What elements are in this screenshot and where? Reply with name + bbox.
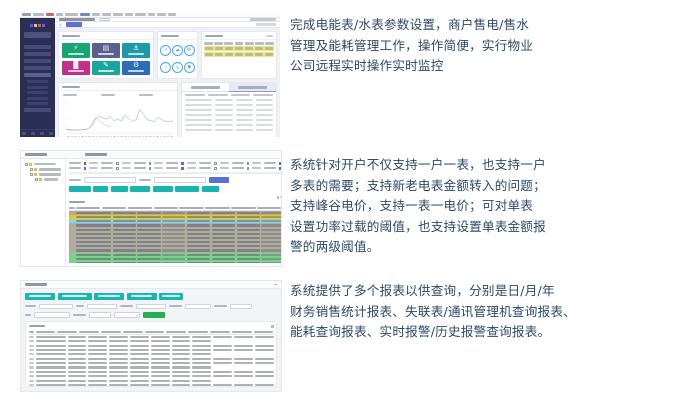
report-filter-input-3[interactable]: [136, 304, 166, 310]
report-cell: [172, 349, 191, 351]
chart-filter-row[interactable]: [59, 91, 177, 99]
x-tick-8: [92, 136, 95, 137]
minimize-icon[interactable]: [274, 284, 277, 285]
report-dropdown[interactable]: [114, 312, 140, 318]
report-tab-4[interactable]: [127, 293, 157, 300]
panel-header: [202, 32, 276, 40]
report-column-header[interactable]: [254, 331, 274, 333]
bookmark-item[interactable]: [22, 13, 31, 15]
report-table-header-bar: [29, 325, 274, 328]
meter-table[interactable]: [69, 206, 282, 263]
column-header[interactable]: [179, 207, 203, 209]
report-tab-5[interactable]: [159, 293, 183, 300]
filter-option-label: [252, 162, 261, 164]
bookmark-item[interactable]: [92, 13, 100, 15]
device-status-panel: ⚡☁⚙○△◉: [157, 31, 198, 79]
bookmark-item[interactable]: [135, 13, 146, 15]
row-select-cell[interactable]: [69, 233, 75, 235]
report-cell: [36, 380, 66, 382]
sidebar-submenu-item-3[interactable]: [27, 91, 48, 94]
table-cell: [162, 258, 185, 260]
filter-label: [166, 162, 178, 164]
tile-6[interactable]: ⚙: [122, 61, 150, 76]
report-cell: [109, 340, 128, 342]
report-column-header[interactable]: [36, 331, 56, 333]
report-cell: [192, 362, 211, 364]
table-row[interactable]: [69, 261, 282, 263]
report-cell: [255, 375, 274, 377]
filter-checkbox[interactable]: [149, 162, 152, 165]
report-cell: [29, 345, 34, 347]
table-cell: [261, 224, 282, 226]
report-tabs[interactable]: [25, 293, 277, 300]
filter-option-label: [187, 162, 196, 164]
gauge-grid[interactable]: ⚡☁⚙○△◉: [158, 40, 197, 78]
table-cell: [162, 229, 185, 231]
ranking-cell: [215, 109, 232, 111]
report-cell: [213, 353, 232, 355]
ranking-cell: [256, 99, 273, 101]
table-cell: [76, 229, 111, 231]
table-cell: [237, 249, 260, 251]
report-cell: [234, 371, 253, 373]
panel-header: [158, 32, 197, 40]
panel-header: [59, 32, 153, 40]
column-header[interactable]: [76, 207, 100, 209]
mini-header-cell: [245, 42, 254, 44]
bookmark-item[interactable]: [168, 13, 176, 15]
sidebar-menu-item-5[interactable]: [24, 73, 51, 77]
search-button[interactable]: [209, 177, 229, 183]
report-cell: [88, 384, 107, 386]
table-cell: [237, 254, 260, 256]
action-toolbar[interactable]: [69, 186, 282, 192]
ranking-cell: [215, 104, 232, 106]
report-cell: [88, 345, 107, 347]
report-column-header[interactable]: [145, 331, 165, 333]
report-column-header[interactable]: [188, 331, 208, 333]
chart-filter-3-label: [139, 94, 153, 96]
report-cell: [109, 384, 128, 386]
report-cell: [29, 336, 34, 338]
bookmark-item[interactable]: [56, 13, 63, 15]
report-table-card: [25, 321, 277, 387]
tile-1[interactable]: ⚡: [62, 43, 90, 58]
table-cell: [212, 254, 235, 256]
search-input[interactable]: [84, 177, 136, 183]
column-header[interactable]: [205, 207, 229, 209]
table-cell: [162, 249, 185, 251]
tree-toggle-icon[interactable]: [30, 168, 33, 171]
sidebar-menu-item-1[interactable]: [24, 45, 51, 49]
energy-line-chart: [65, 101, 174, 134]
filter-checkbox[interactable]: [149, 167, 152, 170]
topbar-user-info[interactable]: [250, 18, 276, 21]
filter-checkbox[interactable]: [279, 167, 282, 170]
tree-node-1[interactable]: [25, 163, 61, 166]
row-select-cell[interactable]: [69, 258, 75, 260]
report-cell: [130, 353, 149, 355]
row-select-cell[interactable]: [69, 229, 75, 231]
filter-checkbox[interactable]: [247, 162, 250, 165]
table-cell: [237, 212, 260, 214]
report-column-header[interactable]: [29, 331, 34, 333]
line-chart-svg: [65, 101, 174, 134]
row-select-cell[interactable]: [69, 220, 75, 222]
report-screenshot[interactable]: [20, 280, 282, 392]
bookmark-item[interactable]: [102, 13, 111, 15]
report-filter-input-4[interactable]: [185, 304, 211, 310]
action-button-6[interactable]: [175, 186, 199, 192]
dashboard-sidebar[interactable]: [20, 18, 55, 137]
action-button-2[interactable]: [93, 186, 108, 192]
sidebar-footer-icon-3[interactable]: [40, 132, 44, 135]
row-select-cell[interactable]: [69, 249, 75, 251]
tabbar-actions[interactable]: [256, 23, 276, 26]
table-cell: [212, 237, 235, 239]
tree-node-4[interactable]: [25, 178, 61, 181]
report-cell: [29, 366, 34, 368]
meter-list-screenshot[interactable]: [20, 150, 282, 267]
sidebar-submenu-item-4[interactable]: [27, 97, 48, 100]
folder-icon: [34, 168, 37, 171]
tile-5[interactable]: ✎: [92, 61, 120, 76]
action-button-4[interactable]: [130, 186, 150, 192]
tile-4[interactable]: █: [62, 61, 90, 76]
row-select-cell[interactable]: [69, 241, 75, 243]
row-select-cell[interactable]: [69, 237, 75, 239]
table-cell: [113, 245, 136, 247]
gauge-5[interactable]: △: [172, 62, 183, 73]
filter-label: [264, 162, 276, 164]
sidebar-submenu-item-1[interactable]: [27, 80, 48, 83]
action-button-7[interactable]: [202, 186, 219, 192]
bookmark-item[interactable]: [148, 13, 155, 15]
tree-node-2[interactable]: [25, 168, 61, 171]
report-column-header[interactable]: [232, 331, 252, 333]
action-button-3[interactable]: [111, 186, 128, 192]
gauge-5-icon: △: [176, 65, 180, 70]
search-input-2[interactable]: [154, 177, 206, 183]
sidebar-menu-item-6[interactable]: [24, 108, 51, 112]
sidebar-menu-item-2[interactable]: [24, 52, 51, 56]
filter-checkbox[interactable]: [84, 162, 87, 165]
report-cell: [88, 353, 107, 355]
status-badge: [99, 18, 110, 21]
report-column-header[interactable]: [166, 331, 186, 333]
table-cell: [187, 224, 210, 226]
filter-checkbox[interactable]: [247, 167, 250, 170]
mini-cell: [265, 47, 273, 49]
mini-cell: [235, 47, 243, 49]
report-cell: [213, 358, 232, 360]
table-cell: [137, 245, 160, 247]
gauge-6[interactable]: ◉: [184, 62, 195, 73]
gauge-2[interactable]: ☁: [172, 45, 183, 56]
tree-toggle-icon[interactable]: [25, 163, 28, 166]
table-row[interactable]: [185, 124, 273, 126]
sidebar-footer-icon-1[interactable]: [22, 132, 26, 135]
report-tab-2[interactable]: [58, 293, 92, 300]
report-cell: [255, 366, 274, 368]
report-filter2-input-1[interactable]: [34, 312, 70, 318]
row-select-cell[interactable]: [69, 262, 75, 263]
report-cell: [213, 349, 232, 351]
filter-label: [264, 167, 276, 169]
filter-checkbox[interactable]: [116, 167, 119, 170]
row-select-cell[interactable]: [69, 216, 75, 218]
column-header[interactable]: [69, 207, 75, 209]
table-cell: [261, 241, 282, 243]
x-tick-3: [74, 136, 77, 137]
panel-header: [59, 83, 177, 91]
report-cell: [130, 375, 149, 377]
table-row[interactable]: [185, 104, 273, 106]
quick-entry-tiles[interactable]: ⚡▤⚓█✎⚙: [59, 40, 153, 78]
sidebar-submenu-item-5[interactable]: [27, 102, 48, 105]
report-cell: [255, 371, 274, 373]
report-cell: [109, 371, 128, 373]
row-select-cell[interactable]: [69, 254, 75, 256]
ranking-cell: [185, 114, 212, 116]
chart-series-series-orange: [66, 117, 110, 130]
report-tab-1-label: [29, 295, 51, 297]
action-button-5[interactable]: [153, 186, 173, 192]
filter-checkbox[interactable]: [181, 167, 184, 170]
tile-2[interactable]: ▤: [92, 43, 120, 58]
sidebar-submenu-item-2[interactable]: [27, 86, 48, 89]
more-icon[interactable]: [266, 35, 273, 38]
row-select-cell[interactable]: [69, 212, 75, 214]
bookmark-item[interactable]: [65, 13, 78, 15]
table-title: [69, 201, 85, 203]
gauge-1[interactable]: ⚡: [160, 45, 171, 56]
search-label: [69, 179, 81, 181]
ranking-tab-2[interactable]: [229, 83, 276, 92]
x-tick-15: [117, 136, 120, 137]
bookmark-item[interactable]: [113, 13, 123, 15]
gauge-2-icon: ☁: [175, 48, 180, 53]
filter-checkbox[interactable]: [84, 167, 87, 170]
report-tab-3-label: [98, 295, 120, 297]
filter-checkbox[interactable]: [181, 162, 184, 165]
table-cell: [187, 254, 210, 256]
filter-hint-text: [69, 172, 282, 174]
slide-canvas: ⚡▤⚓█✎⚙ ⚡☁⚙○△◉: [0, 0, 697, 408]
report-filter-input-2[interactable]: [87, 304, 117, 310]
report-cell: [109, 336, 128, 338]
report-cell: [151, 353, 170, 355]
report-cell: [68, 362, 87, 364]
report-filter-input-5[interactable]: [230, 304, 252, 310]
table-cell: [212, 224, 235, 226]
report-cell: [109, 353, 128, 355]
report-cell: [192, 380, 211, 382]
filter-checkbox[interactable]: [214, 167, 217, 170]
table-cell: [237, 224, 260, 226]
tree-toggle-icon[interactable]: [35, 178, 38, 181]
report-table[interactable]: [29, 330, 274, 388]
action-button-1[interactable]: [69, 186, 91, 192]
report-filter-row-1[interactable]: [25, 304, 277, 310]
chart-filter-1[interactable]: [63, 94, 97, 98]
column-header[interactable]: [257, 207, 281, 209]
report-cell: [130, 380, 149, 382]
chevron-left-icon[interactable]: [59, 23, 63, 27]
report-cell: [192, 353, 211, 355]
table-cell: [261, 245, 282, 247]
status-legend: [69, 196, 282, 199]
report-cell: [213, 362, 232, 364]
report-tab-1[interactable]: [25, 293, 55, 300]
report-tab-3[interactable]: [94, 293, 124, 300]
bookmark-item[interactable]: [46, 13, 54, 15]
table-cell: [76, 245, 111, 247]
tab-home[interactable]: [66, 22, 82, 27]
table-cell: [261, 258, 282, 260]
row-select-cell[interactable]: [69, 224, 75, 226]
report-filter-label-1: [25, 305, 36, 307]
description-block-1: 完成电能表/水表参数设置，商户售电/售水 管理及能耗管理工作，操作简便，实行物业…: [290, 15, 690, 77]
table-cell: [212, 216, 235, 218]
gauge-4[interactable]: ○: [160, 62, 171, 73]
report-cell: [213, 384, 232, 386]
filter-label: [166, 167, 178, 169]
report-cell: [109, 358, 128, 360]
row-select-cell[interactable]: [69, 245, 75, 247]
filter-label: [69, 167, 81, 169]
table-cell: [113, 249, 136, 251]
dashboard-screenshot[interactable]: ⚡▤⚓█✎⚙ ⚡☁⚙○△◉: [20, 12, 280, 137]
table-row[interactable]: [29, 383, 274, 387]
sidebar-footer-icon-2[interactable]: [31, 132, 35, 135]
table-cell: [212, 229, 235, 231]
filter-checkbox[interactable]: [214, 162, 217, 165]
table-row[interactable]: [185, 99, 273, 101]
tree-node-3[interactable]: [25, 173, 61, 176]
sidebar-menu-item-4[interactable]: [24, 66, 51, 70]
table-cell: [162, 245, 185, 247]
table-row[interactable]: [185, 109, 273, 111]
x-tick-17: [124, 136, 127, 137]
filter-option-label: [252, 167, 261, 169]
filter-row-2[interactable]: [69, 167, 282, 170]
tile-3[interactable]: ⚓: [122, 43, 150, 58]
table-cell: [137, 249, 160, 251]
report-filter2-input-2[interactable]: [89, 312, 111, 318]
table-cell: [187, 258, 210, 260]
report-cell: [172, 353, 191, 355]
column-header[interactable]: [128, 207, 152, 209]
ranking-cell: [236, 124, 253, 126]
ranking-cell: [185, 104, 212, 106]
alarm-mini-table: [202, 40, 276, 78]
bookmark-item[interactable]: [33, 13, 44, 15]
table-cell: [187, 241, 210, 243]
gauge-3[interactable]: ⚙: [184, 45, 195, 56]
table-cell: [76, 233, 111, 235]
report-cell: [68, 340, 87, 342]
table-cell: [237, 229, 260, 231]
report-column-header[interactable]: [57, 331, 77, 333]
chart-filter-3[interactable]: [139, 94, 173, 98]
bookmark-item[interactable]: [157, 13, 166, 15]
sidebar-menu-item-3[interactable]: [24, 59, 51, 63]
table-row[interactable]: [185, 129, 273, 131]
table-cell: [237, 258, 260, 260]
x-tick-16: [120, 136, 123, 137]
ranking-tabs[interactable]: [182, 83, 276, 92]
table-cell: [212, 241, 235, 243]
mini-header-cell: [235, 42, 244, 44]
table-cell: [76, 212, 111, 214]
filter-checkbox[interactable]: [116, 162, 119, 165]
report-cell: [255, 349, 274, 351]
report-cell: [36, 345, 66, 347]
table-cell: [187, 249, 210, 251]
ranking-cell: [185, 124, 212, 126]
report-cell: [255, 353, 274, 355]
report-cell: [130, 384, 149, 386]
table-row[interactable]: [185, 114, 273, 116]
search-row[interactable]: [69, 177, 282, 183]
tree-toggle-icon[interactable]: [30, 173, 33, 176]
report-column-header[interactable]: [123, 331, 143, 333]
ranking-tab-1[interactable]: [182, 83, 229, 92]
chart-filter-2[interactable]: [101, 94, 135, 98]
sidebar-footer-icons[interactable]: [20, 129, 55, 137]
bookmark-item[interactable]: [80, 13, 90, 15]
column-header[interactable]: [102, 207, 126, 209]
report-column-header[interactable]: [210, 331, 230, 333]
report-cell: [172, 340, 191, 342]
table-cell: [76, 249, 111, 251]
building-tree[interactable]: [21, 159, 66, 266]
sidebar-menu[interactable]: [20, 42, 55, 115]
tile-3-label: [128, 53, 145, 55]
sidebar-footer-icon-4[interactable]: [49, 132, 53, 135]
report-cell: [192, 366, 211, 368]
column-header[interactable]: [231, 207, 255, 209]
column-header[interactable]: [154, 207, 178, 209]
table-cell: [137, 254, 160, 256]
table-cell: [212, 245, 235, 247]
filter-option-label: [122, 167, 131, 169]
ranking-cell: [256, 119, 273, 121]
report-query-button[interactable]: [143, 312, 165, 318]
quick-entry-panel: ⚡▤⚓█✎⚙: [58, 31, 154, 79]
report-filter-input-1[interactable]: [39, 304, 73, 310]
table-row[interactable]: [185, 119, 273, 121]
table-cell: [261, 216, 282, 218]
table-cell: [261, 262, 282, 263]
export-icon[interactable]: [271, 325, 274, 328]
filter-checkbox[interactable]: [279, 162, 282, 165]
filter-row-1[interactable]: [69, 162, 282, 165]
report-cell: [29, 362, 34, 364]
report-filter-row-2[interactable]: [25, 312, 277, 318]
report-column-header[interactable]: [101, 331, 121, 333]
report-column-header[interactable]: [79, 331, 99, 333]
table-cell: [137, 220, 160, 222]
bookmark-item[interactable]: [125, 13, 133, 15]
report-cell: [68, 336, 87, 338]
table-cell: [162, 212, 185, 214]
filter-label: [232, 167, 244, 169]
filter-label: [199, 167, 211, 169]
table-cell: [187, 216, 210, 218]
legend-label: [280, 196, 282, 198]
